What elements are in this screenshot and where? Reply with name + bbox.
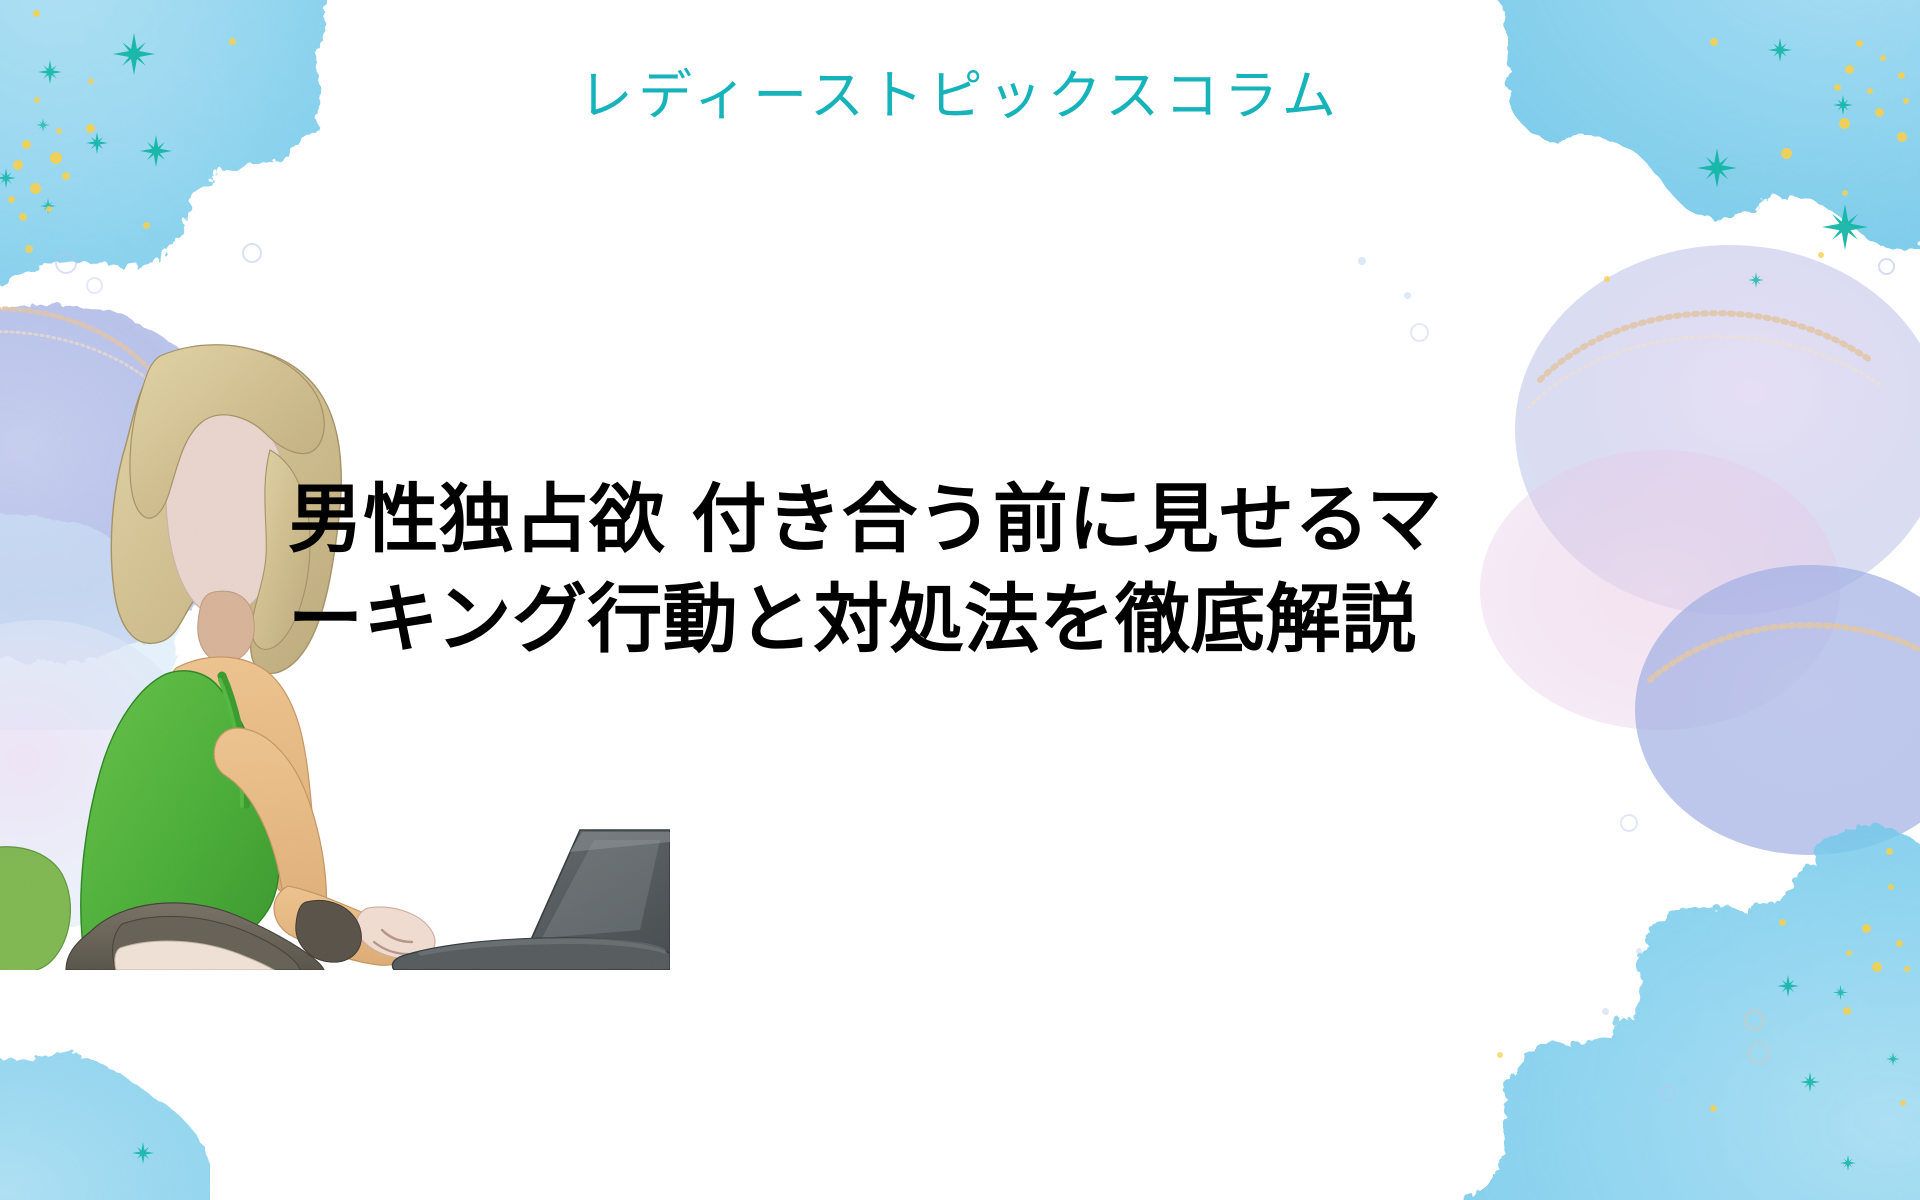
watercolor-blob-top-left [0,0,380,310]
confetti-dot [1862,924,1871,933]
eight-point-star-icon [1748,272,1764,288]
eight-point-star-icon [132,1142,154,1164]
eight-point-star-icon [1822,204,1868,250]
confetti-dot [1880,55,1886,61]
watercolor-blob-top-right [1440,0,1920,330]
confetti-dot [1886,848,1893,855]
confetti-dot [1497,1052,1503,1058]
eight-point-star-icon [1886,1052,1900,1066]
bubble-dot [1404,292,1411,299]
eyecatch-canvas: レディーストピックスコラム 男性独占欲 付き合う前に見せるマ ーキング行動と対処… [0,0,1920,1200]
eight-point-star-icon [1768,38,1792,62]
article-title: 男性独占欲 付き合う前に見せるマ ーキング行動と対処法を徹底解説 [288,470,1298,670]
confetti-dot [1846,950,1852,956]
confetti-dot [56,128,62,134]
bubble-ring [86,277,103,294]
confetti-dot [13,160,23,170]
confetti-dot [1897,132,1907,142]
watercolor-blob-bottom-left [0,1010,210,1200]
category-kicker: レディーストピックスコラム [0,66,1920,125]
confetti-dot [143,222,150,229]
confetti-dot [1818,252,1824,258]
confetti-dot [1904,966,1910,972]
confetti-dot [1888,884,1894,890]
eight-point-star-icon [1777,975,1799,997]
bubble-ring [1878,258,1895,275]
confetti-dot [1604,276,1610,282]
confetti-dot [25,245,33,253]
bubble-ring [55,252,77,274]
confetti-dot [1843,1007,1851,1015]
confetti-dot [19,213,27,221]
confetti-dot [30,183,41,194]
confetti-dot [1900,1100,1906,1106]
confetti-dot [1710,38,1718,46]
article-title-line-2: ーキング行動と対処法を徹底解説 [288,570,1298,670]
eight-point-star-icon [1800,1072,1820,1092]
confetti-dot [1779,919,1786,926]
eight-point-star-icon [1697,148,1737,188]
eight-point-star-icon [86,132,108,154]
confetti-dot [229,38,236,45]
confetti-dot [1896,940,1903,947]
bubble-dot [1602,1008,1609,1015]
confetti-dot [46,206,52,212]
eight-point-star-icon [1840,1155,1856,1171]
eight-point-star-icon [1833,985,1848,1000]
confetti-dot [1710,1105,1717,1112]
confetti-dot [50,152,62,164]
bubble-ring [1748,1042,1770,1064]
watercolor-blob-right-middle [1470,230,1920,750]
article-title-line-1: 男性独占欲 付き合う前に見せるマ [288,470,1298,570]
eight-point-star-icon [40,198,56,214]
bubble-ring [1660,1085,1676,1101]
confetti-dot [1856,40,1863,47]
confetti-dot [8,196,15,203]
bubble-ring [1620,814,1638,832]
confetti-dot [22,140,31,149]
bubble-dot [1636,948,1642,954]
bubble-ring [1744,1010,1764,1030]
confetti-dot [62,172,70,180]
watercolor-blob-bottom-right [1400,800,1920,1200]
bubble-dot [1358,257,1366,265]
bubble-ring [1410,323,1429,342]
confetti-dot [33,10,40,17]
confetti-dot [1781,148,1792,159]
eight-point-star-icon [0,168,16,188]
bubble-ring [242,243,262,263]
confetti-dot [1872,962,1882,972]
confetti-dot [1842,190,1848,196]
watercolor-blob-right-lower [1620,560,1920,890]
eight-point-star-icon [140,135,172,167]
